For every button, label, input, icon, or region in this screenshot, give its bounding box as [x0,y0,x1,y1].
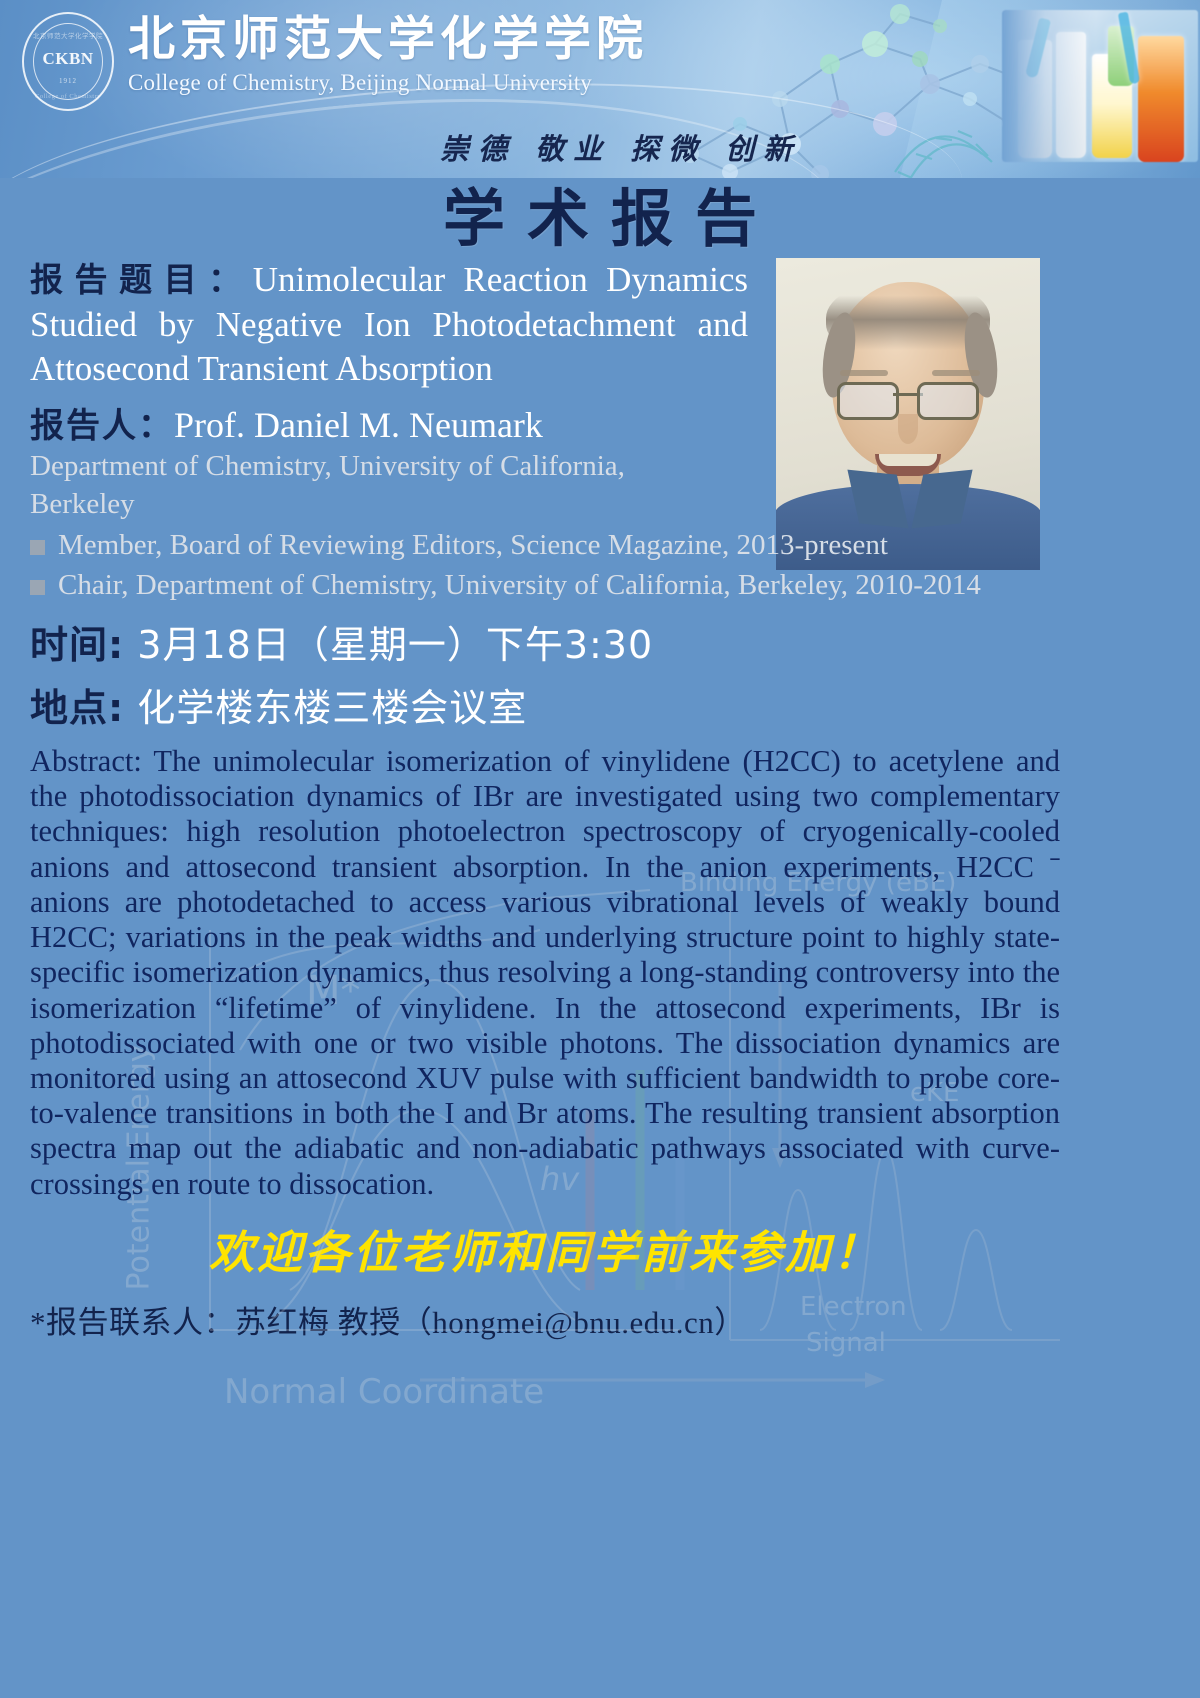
university-name-en: College of Chemistry, Beijing Normal Uni… [128,70,648,96]
seal-year-text: 1912 [59,77,77,85]
university-logo: 北京师范大学化学学院 CKBN 1912 College of Chemistr… [22,12,648,111]
college-seal-icon: 北京师范大学化学学院 CKBN 1912 College of Chemistr… [22,12,114,111]
credential-text: Chair, Department of Chemistry, Universi… [58,566,1070,605]
seal-mark-text: CKBN [42,49,93,69]
list-item: Member, Board of Reviewing Editors, Scie… [30,526,1070,565]
seal-bottom-text: College of Chemistry [35,93,101,100]
bullet-square-icon [30,540,45,555]
lab-glassware-image [1002,10,1198,162]
bullet-square-icon [30,580,45,595]
location-value: 化学楼东楼三楼会议室 [137,686,527,730]
abstract-text: Abstract: The unimolecular isomerization… [30,744,1060,1202]
welcome-message: 欢迎各位老师和同学前来参加！ [30,1216,1060,1281]
poster-content: 报告题目：Unimolecular Reaction Dynamics Stud… [30,258,1170,1342]
seal-top-text: 北京师范大学化学学院 [33,30,103,40]
header-banner: 北京师范大学化学学院 CKBN 1912 College of Chemistr… [0,0,1200,178]
credential-text: Member, Board of Reviewing Editors, Scie… [58,526,1070,565]
speaker-line: 报告人：Prof. Daniel M. Neumark [30,398,1170,447]
topic-line: 报告题目：Unimolecular Reaction Dynamics Stud… [30,258,748,392]
speaker-affiliation: Department of Chemistry, University of C… [30,448,730,523]
topic-label: 报告题目： [30,260,253,299]
page-title: 学术报告 [0,168,1200,258]
speaker-credentials: Member, Board of Reviewing Editors, Scie… [30,526,1070,605]
location-line: 地点: 化学楼东楼三楼会议室 [30,677,1170,732]
speaker-name: Prof. Daniel M. Neumark [174,405,543,445]
time-label: 时间: [30,623,124,667]
university-motto: 崇德 敬业 探微 创新 [440,126,801,168]
speaker-label: 报告人： [30,406,174,446]
time-line: 时间: 3月18日（星期一）下午3:30 [30,614,1170,669]
watermark-label-normal-coordinate: Normal Coordinate [224,1372,544,1412]
list-item: Chair, Department of Chemistry, Universi… [30,566,1070,605]
location-label: 地点: [30,686,124,730]
university-name-cn: 北京师范大学化学学院 [128,14,648,67]
contact-line: *报告联系人：苏红梅 教授（hongmei@bnu.edu.cn） [30,1297,1170,1342]
university-names: 北京师范大学化学学院 College of Chemistry, Beijing… [128,14,648,96]
time-value: 3月18日（星期一）下午3:30 [137,623,653,667]
